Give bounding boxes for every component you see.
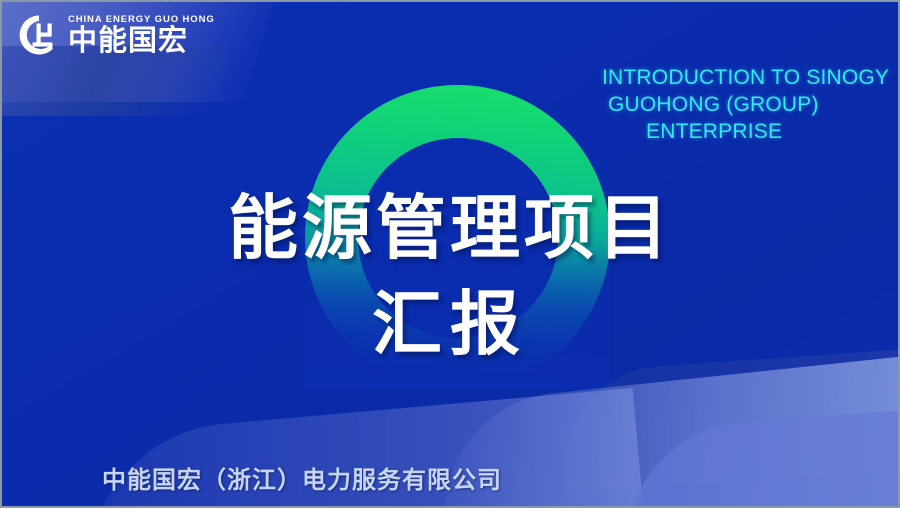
slide-title: 能源管理项目 汇报 (2, 180, 898, 372)
english-heading-line-2: GUOHONG (GROUP) (602, 91, 900, 118)
logo-wordmark: CHINA ENERGY GUO HONG 中能国宏 (68, 15, 215, 56)
slide-title-line-1: 能源管理项目 (2, 180, 898, 276)
presentation-slide: CHINA ENERGY GUO HONG 中能国宏 INTRODUCTION … (0, 0, 900, 508)
english-heading-line-3: ENTERPRISE (602, 118, 900, 145)
footer-company-name: 中能国宏（浙江）电力服务有限公司 (102, 460, 502, 495)
english-heading-line-1: INTRODUCTION TO SINOGY (602, 64, 900, 91)
logo-chinese-name: 中能国宏 (68, 26, 215, 55)
company-logo: CHINA ENERGY GUO HONG 中能国宏 (16, 12, 215, 58)
english-heading: INTRODUCTION TO SINOGY GUOHONG (GROUP) E… (602, 64, 900, 145)
slide-title-line-2: 汇报 (2, 276, 898, 372)
logo-mark-icon (16, 12, 62, 58)
